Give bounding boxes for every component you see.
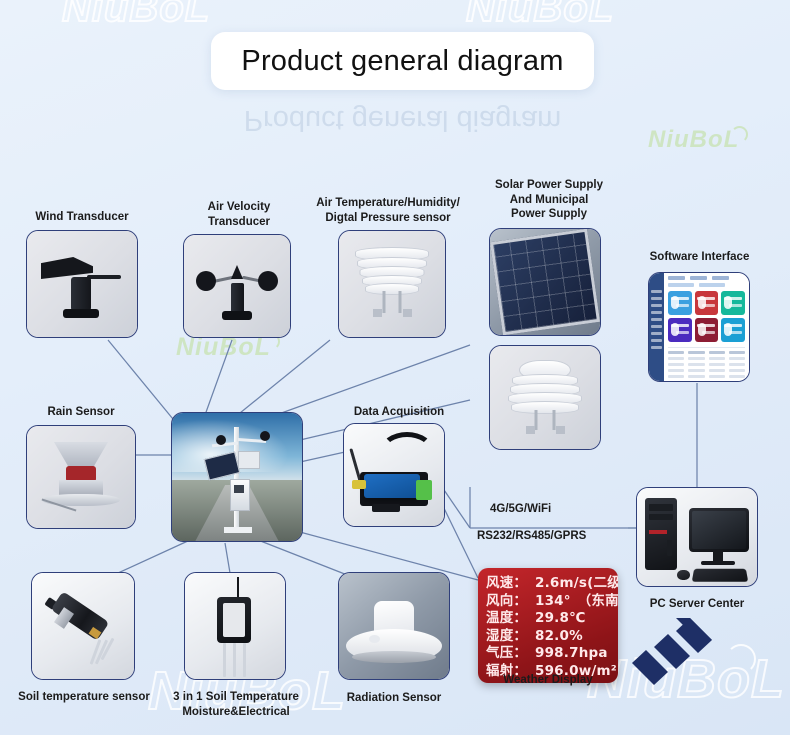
page-title: Product general diagram	[211, 32, 594, 90]
page-title-container: Product general diagram Product general …	[211, 32, 594, 136]
page-title-reflection: Product general diagram	[211, 92, 594, 136]
page-title-text: Product general diagram	[241, 45, 563, 78]
